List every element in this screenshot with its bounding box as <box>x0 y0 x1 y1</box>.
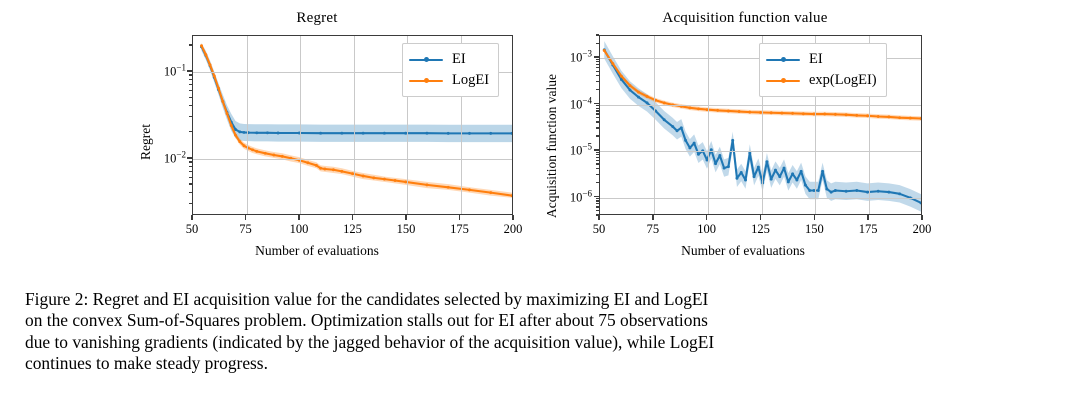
x-tick-mark <box>191 215 193 220</box>
gridline-vertical <box>300 36 301 214</box>
series-marker <box>200 44 203 47</box>
y-minor-tick-mark <box>189 177 192 178</box>
y-tick-label: 10−5 <box>570 141 592 158</box>
y-tick-mantissa: 10 <box>570 144 583 158</box>
series-marker <box>646 95 649 98</box>
y-tick-exponent: −5 <box>582 141 592 151</box>
y-minor-tick-mark <box>596 174 599 175</box>
series-marker <box>319 167 322 170</box>
x-tick-mark <box>814 215 816 220</box>
series-marker <box>688 106 691 109</box>
series-marker <box>697 153 700 156</box>
y-minor-tick-mark <box>596 168 599 169</box>
series-marker <box>362 132 365 135</box>
series-marker <box>834 189 837 192</box>
x-tick-mark <box>598 215 600 220</box>
y-minor-tick-mark <box>189 97 192 98</box>
y-minor-tick-mark <box>596 64 599 65</box>
y-minor-tick-mark <box>596 163 599 164</box>
y-tick-exponent: −6 <box>582 188 592 198</box>
legend-label: LogEI <box>452 73 489 88</box>
series-marker <box>825 188 828 191</box>
series-marker <box>727 165 730 168</box>
y-tick-exponent: −3 <box>582 49 592 59</box>
series-marker <box>778 175 781 178</box>
series-marker <box>209 63 212 66</box>
gridline-vertical <box>247 36 248 214</box>
y-tick-exponent: −1 <box>176 62 186 72</box>
series-marker <box>800 170 803 173</box>
y-minor-tick-mark <box>596 81 599 82</box>
series-marker <box>845 190 848 193</box>
series-marker <box>204 53 207 56</box>
y-minor-tick-mark <box>596 157 599 158</box>
series-marker <box>804 184 807 187</box>
series-marker <box>628 84 631 87</box>
caption-line: continues to make steady progress. <box>25 353 1057 374</box>
gridline-vertical <box>654 36 655 214</box>
y-minor-tick-mark <box>596 105 599 106</box>
series-marker <box>823 113 826 116</box>
y-tick-mantissa: 10 <box>570 190 583 204</box>
series-marker <box>909 117 912 120</box>
y-minor-tick-mark <box>596 198 599 199</box>
series-marker <box>238 130 241 133</box>
y-tick-label: 10−3 <box>570 49 592 66</box>
x-tick-label: 100 <box>290 222 309 237</box>
series-marker <box>676 129 679 132</box>
y-tick-label: 10−2 <box>164 149 186 166</box>
series-marker <box>372 176 375 179</box>
y-axis-ticks-left: 10−110−2 <box>142 0 186 275</box>
series-marker <box>489 191 492 194</box>
x-tick-mark <box>706 215 708 220</box>
series-marker <box>770 111 773 114</box>
series-marker <box>238 140 241 143</box>
series-marker <box>243 131 246 134</box>
legend-entry: exp(LogEI) <box>766 70 877 91</box>
series-marker <box>251 148 254 151</box>
series-marker <box>447 186 450 189</box>
y-minor-tick-mark <box>596 160 599 161</box>
series-marker <box>628 89 631 92</box>
series-marker <box>765 160 768 163</box>
x-tick-mark <box>459 215 461 220</box>
series-marker <box>877 190 880 193</box>
series-marker <box>447 132 450 135</box>
series-marker <box>845 113 848 116</box>
caption-line: Figure 2: Regret and EI acquisition valu… <box>25 289 1057 310</box>
x-tick-mark <box>405 215 407 220</box>
series-marker <box>217 87 220 90</box>
series-marker <box>693 142 696 145</box>
series-marker <box>221 100 224 103</box>
series-marker <box>266 131 269 134</box>
x-tick-mark <box>245 215 247 220</box>
x-tick-label: 200 <box>504 222 523 237</box>
legend-swatch-icon <box>766 53 800 67</box>
y-minor-tick-mark <box>596 113 599 114</box>
y-tick-label: 10−6 <box>570 188 592 205</box>
gridline-vertical <box>708 36 709 214</box>
series-marker <box>671 125 674 128</box>
series-marker <box>489 132 492 135</box>
x-tick-mark <box>512 215 514 220</box>
y-minor-tick-mark <box>189 203 192 204</box>
y-minor-tick-mark <box>596 182 599 183</box>
y-minor-tick-mark <box>596 43 599 44</box>
gridline-horizontal <box>600 151 921 152</box>
series-marker <box>791 112 794 115</box>
series-marker <box>243 144 246 147</box>
y-minor-tick-mark <box>189 131 192 132</box>
series-marker <box>887 191 890 194</box>
legend-regret[interactable]: EILogEI <box>402 43 499 97</box>
series-marker <box>731 139 734 142</box>
series-marker <box>281 155 284 158</box>
series-marker <box>718 154 721 157</box>
x-tick-label: 125 <box>751 222 770 237</box>
series-marker <box>783 167 786 170</box>
legend-label: EI <box>452 52 466 67</box>
gridline-vertical <box>354 36 355 214</box>
x-tick-label: 50 <box>593 222 606 237</box>
series-marker <box>230 124 233 127</box>
series-marker <box>770 178 773 181</box>
y-minor-tick-mark <box>189 44 192 45</box>
y-minor-tick-mark <box>596 71 599 72</box>
series-marker <box>738 110 741 113</box>
x-axis-label-regret: Number of evaluations <box>112 243 522 259</box>
x-tick-label: 175 <box>859 222 878 237</box>
legend-label: exp(LogEI) <box>809 73 877 88</box>
legend-swatch-icon <box>766 74 800 88</box>
series-marker <box>697 107 700 110</box>
series-marker <box>714 162 717 165</box>
legend-entry: EI <box>409 49 489 70</box>
series-marker <box>887 115 890 118</box>
series-marker <box>611 62 614 65</box>
x-axis-label-acquisition: Number of evaluations <box>538 243 948 259</box>
figure-area: Regret Regret 10−110−2 Number of evaluat… <box>0 0 1080 275</box>
legend-entry: EI <box>766 49 877 70</box>
series-marker <box>637 91 640 94</box>
legend-acquisition[interactable]: EIexp(LogEI) <box>759 43 887 97</box>
y-axis-ticks-right: 10−310−410−510−6 <box>548 0 592 275</box>
series-marker <box>898 116 901 119</box>
series-marker <box>425 132 428 135</box>
y-tick-exponent: −4 <box>582 95 592 105</box>
y-minor-tick-mark <box>596 203 599 204</box>
series-marker <box>603 49 606 52</box>
x-tick-label: 175 <box>450 222 469 237</box>
series-marker <box>684 139 687 142</box>
x-tick-label: 150 <box>397 222 416 237</box>
series-marker <box>877 115 880 118</box>
caption-line: due to vanishing gradients (indicated by… <box>25 332 1057 353</box>
x-tick-label: 125 <box>343 222 362 237</box>
y-minor-tick-mark <box>596 135 599 136</box>
series-marker <box>753 175 756 178</box>
series-marker <box>688 146 691 149</box>
x-tick-mark <box>298 215 300 220</box>
gridline-horizontal <box>193 159 512 160</box>
x-tick-mark <box>760 215 762 220</box>
y-minor-tick-mark <box>189 161 192 162</box>
series-marker <box>272 154 275 157</box>
y-tick-mantissa: 10 <box>570 51 583 65</box>
y-tick-mark <box>187 157 192 159</box>
x-tick-label: 75 <box>647 222 660 237</box>
series-marker <box>855 189 858 192</box>
regret-chart-panel: Regret Regret 10−110−2 Number of evaluat… <box>120 0 530 275</box>
acquisition-chart-panel: Acquisition function value Acquisition f… <box>530 0 940 275</box>
y-minor-tick-mark <box>596 152 599 153</box>
series-marker <box>834 113 837 116</box>
series-marker <box>740 171 743 174</box>
y-tick-mantissa: 10 <box>570 97 583 111</box>
y-minor-tick-mark <box>596 75 599 76</box>
series-marker <box>315 164 318 167</box>
y-minor-tick-mark <box>596 61 599 62</box>
figure-caption: Figure 2: Regret and EI acquisition valu… <box>25 289 1057 374</box>
series-marker <box>757 166 760 169</box>
y-minor-tick-mark <box>596 206 599 207</box>
series-marker <box>319 132 322 135</box>
series-marker <box>425 183 428 186</box>
series-marker <box>468 132 471 135</box>
series-marker <box>716 109 719 112</box>
y-minor-tick-mark <box>596 121 599 122</box>
y-minor-tick-mark <box>189 166 192 167</box>
series-marker <box>255 150 258 153</box>
y-minor-tick-mark <box>596 34 599 35</box>
y-tick-mantissa: 10 <box>164 151 177 165</box>
y-tick-exponent: −2 <box>176 149 186 159</box>
y-minor-tick-mark <box>189 105 192 106</box>
series-marker <box>855 114 858 117</box>
series-marker <box>830 191 833 194</box>
series-marker <box>663 118 666 121</box>
series-marker <box>306 161 309 164</box>
series-marker <box>795 179 798 182</box>
series-marker <box>468 188 471 191</box>
y-minor-tick-mark <box>189 74 192 75</box>
series-marker <box>744 179 747 182</box>
series-marker <box>226 112 229 115</box>
series-marker <box>383 178 386 181</box>
series-marker <box>277 132 280 135</box>
y-minor-tick-mark <box>596 200 599 201</box>
series-marker <box>255 131 258 134</box>
legend-swatch-icon <box>409 74 443 88</box>
series-marker <box>898 192 901 195</box>
x-tick-mark <box>652 215 654 220</box>
x-tick-mark <box>352 215 354 220</box>
y-minor-tick-mark <box>189 171 192 172</box>
y-minor-tick-mark <box>596 89 599 90</box>
x-tick-mark <box>867 215 869 220</box>
y-tick-mark <box>187 70 192 72</box>
series-marker <box>817 189 820 192</box>
series-marker <box>362 174 365 177</box>
series-marker <box>213 75 216 78</box>
series-marker <box>637 96 640 99</box>
series-marker <box>680 126 683 129</box>
y-minor-tick-mark <box>596 210 599 211</box>
y-tick-label: 10−4 <box>570 95 592 112</box>
series-marker <box>340 170 343 173</box>
series-marker <box>791 172 794 175</box>
y-minor-tick-mark <box>596 117 599 118</box>
x-tick-label: 200 <box>913 222 932 237</box>
series-marker <box>787 180 790 183</box>
y-minor-tick-mark <box>596 59 599 60</box>
series-marker <box>780 112 783 115</box>
y-minor-tick-mark <box>596 127 599 128</box>
series-marker <box>340 132 343 135</box>
y-minor-tick-mark <box>596 67 599 68</box>
series-marker <box>808 189 811 192</box>
y-minor-tick-mark <box>596 154 599 155</box>
series-marker <box>774 169 777 172</box>
series-marker <box>821 170 824 173</box>
y-minor-tick-mark <box>189 183 192 184</box>
y-minor-tick-mark <box>596 110 599 111</box>
caption-line: on the convex Sum-of-Squares problem. Op… <box>25 310 1057 331</box>
y-minor-tick-mark <box>189 90 192 91</box>
chart-title-acquisition: Acquisition function value <box>540 10 950 27</box>
series-marker <box>802 112 805 115</box>
legend-entry: LogEI <box>409 70 489 91</box>
y-minor-tick-mark <box>189 84 192 85</box>
x-tick-label: 75 <box>239 222 252 237</box>
series-marker <box>723 167 726 170</box>
gridline-horizontal <box>600 198 921 199</box>
y-tick-label: 10−1 <box>164 62 186 79</box>
x-tick-label: 150 <box>805 222 824 237</box>
series-marker <box>748 111 751 114</box>
legend-swatch-icon <box>409 53 443 67</box>
x-tick-label: 100 <box>697 222 716 237</box>
series-marker <box>735 177 738 180</box>
series-marker <box>394 179 397 182</box>
y-minor-tick-mark <box>596 108 599 109</box>
y-minor-tick-mark <box>189 192 192 193</box>
y-minor-tick-mark <box>189 116 192 117</box>
series-marker <box>323 168 326 171</box>
series-marker <box>383 132 386 135</box>
legend-label: EI <box>809 52 823 67</box>
x-tick-mark <box>921 215 923 220</box>
y-minor-tick-mark <box>189 79 192 80</box>
gridline-horizontal <box>600 105 921 106</box>
series-marker <box>264 152 267 155</box>
x-tick-label: 50 <box>186 222 199 237</box>
y-tick-mantissa: 10 <box>164 65 177 79</box>
series-marker <box>620 75 623 78</box>
series-marker <box>234 134 237 137</box>
series-marker <box>727 109 730 112</box>
series-marker <box>332 168 335 171</box>
